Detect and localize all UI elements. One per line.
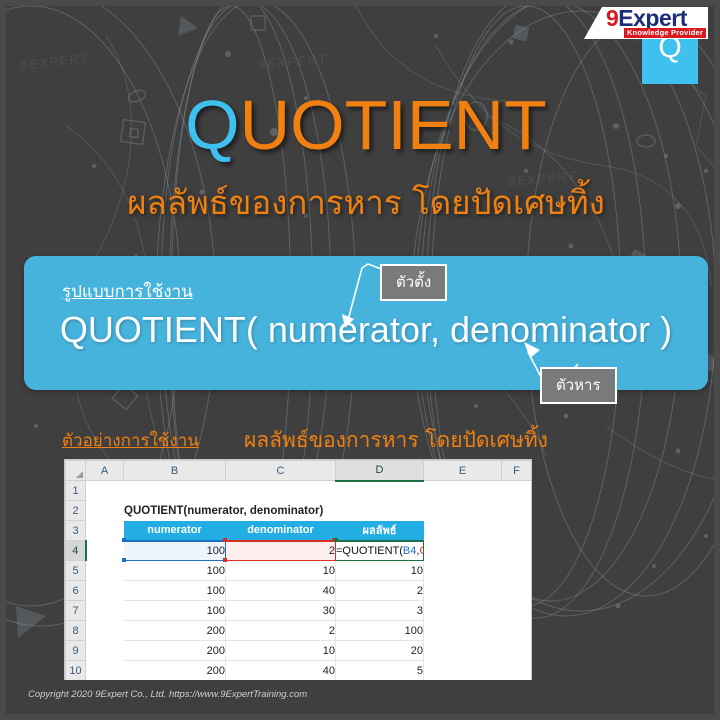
cell-e7[interactable] — [424, 601, 502, 621]
table-row: 8 200 2 100 — [66, 621, 532, 641]
column-header-f[interactable]: F — [502, 461, 532, 481]
logo-nine: 9 — [606, 7, 618, 31]
cell-d10[interactable]: 5 — [336, 661, 424, 681]
cell-f4[interactable] — [502, 541, 532, 561]
cell-f10[interactable] — [502, 661, 532, 681]
title-first-letter: Q — [185, 86, 239, 164]
table-row: 5 100 10 10 — [66, 561, 532, 581]
column-header-a[interactable]: A — [86, 461, 124, 481]
logo-slash-decoration — [584, 7, 602, 39]
cell-e10[interactable] — [424, 661, 502, 681]
row-header-6[interactable]: 6 — [66, 581, 86, 601]
table-row: 7 100 30 3 — [66, 601, 532, 621]
example-heading: ผลลัพธ์ของการหาร โดยปัดเศษทิ้ง — [244, 424, 548, 457]
cell-d8[interactable]: 100 — [336, 621, 424, 641]
range-handle-b-bottomleft[interactable] — [122, 558, 126, 562]
cell-c8[interactable]: 2 — [226, 621, 336, 641]
title-rest: UOTIENT — [240, 86, 547, 164]
syntax-panel-label: รูปแบบการใช้งาน — [62, 278, 193, 305]
table-row: 9 200 10 20 — [66, 641, 532, 661]
table-row: 10 200 40 5 — [66, 661, 532, 681]
page-title: QUOTIENT — [6, 90, 720, 160]
cell-a9[interactable] — [86, 641, 124, 661]
table-row: 2 QUOTIENT(numerator, denominator) — [66, 501, 532, 521]
cell-e9[interactable] — [424, 641, 502, 661]
cell-c9[interactable]: 10 — [226, 641, 336, 661]
cell-e1[interactable] — [424, 481, 502, 501]
slide-canvas: 9EXPERT 9EXPERT 9EXPERT Q QUOTIENT ผลลัพ… — [0, 0, 720, 720]
cell-f7[interactable] — [502, 601, 532, 621]
cell-a3[interactable] — [86, 521, 124, 541]
row-header-3[interactable]: 3 — [66, 521, 86, 541]
cell-c1[interactable] — [226, 481, 336, 501]
formula-prefix: =QUOTIENT( — [336, 545, 403, 557]
table-row: 4 100 2 =QUOTIENT(B4,C4) — [66, 541, 532, 561]
cell-b4[interactable]: 100 — [124, 541, 226, 561]
spreadsheet-screenshot: A B C D E F 1 2 QUOTIENT(numerator, deno… — [64, 459, 532, 697]
cell-c6[interactable]: 40 — [226, 581, 336, 601]
cell-b3-header-numerator[interactable]: numerator — [124, 521, 226, 541]
cell-f5[interactable] — [502, 561, 532, 581]
cell-d5[interactable]: 10 — [336, 561, 424, 581]
cell-c5[interactable]: 10 — [226, 561, 336, 581]
cell-a6[interactable] — [86, 581, 124, 601]
range-handle-c-bottomleft[interactable] — [223, 558, 227, 562]
cell-e3[interactable] — [424, 521, 502, 541]
row-header-1[interactable]: 1 — [66, 481, 86, 501]
formula-ref-b4: B4 — [403, 545, 416, 557]
table-row: 6 100 40 2 — [66, 581, 532, 601]
column-header-e[interactable]: E — [424, 461, 502, 481]
cell-b8[interactable]: 200 — [124, 621, 226, 641]
cell-b2-title[interactable]: QUOTIENT(numerator, denominator) — [124, 501, 424, 521]
column-header-b[interactable]: B — [124, 461, 226, 481]
range-handle-d-topleft[interactable] — [334, 538, 338, 542]
example-label: ตัวอย่างการใช้งาน — [62, 427, 199, 454]
cell-f3[interactable] — [502, 521, 532, 541]
cell-d6[interactable]: 2 — [336, 581, 424, 601]
row-header-10[interactable]: 10 — [66, 661, 86, 681]
row-header-7[interactable]: 7 — [66, 601, 86, 621]
row-header-8[interactable]: 8 — [66, 621, 86, 641]
cell-a2[interactable] — [86, 501, 124, 521]
spreadsheet-grid: A B C D E F 1 2 QUOTIENT(numerator, deno… — [65, 460, 532, 697]
callout-denominator: ตัวหาร — [540, 367, 617, 404]
cell-a7[interactable] — [86, 601, 124, 621]
cell-f9[interactable] — [502, 641, 532, 661]
cell-d3-header-result[interactable]: ผลลัพธ์ — [336, 521, 424, 541]
cell-b7[interactable]: 100 — [124, 601, 226, 621]
table-row: 3 numerator denominator ผลลัพธ์ — [66, 521, 532, 541]
cell-d9[interactable]: 20 — [336, 641, 424, 661]
page-subtitle: ผลลัพธ์ของการหาร โดยปัดเศษทิ้ง — [6, 184, 720, 222]
logo-tagline: Knowledge Provider — [624, 28, 706, 38]
column-header-row: A B C D E F — [66, 461, 532, 481]
cell-e8[interactable] — [424, 621, 502, 641]
cell-c10[interactable]: 40 — [226, 661, 336, 681]
cell-e4[interactable] — [424, 541, 502, 561]
table-row: 1 — [66, 481, 532, 501]
cell-e2[interactable] — [424, 501, 502, 521]
column-header-c[interactable]: C — [226, 461, 336, 481]
formula-ref-c4: C4 — [419, 545, 423, 557]
cell-c4[interactable]: 2 — [226, 541, 336, 561]
cell-c7[interactable]: 30 — [226, 601, 336, 621]
cell-a5[interactable] — [86, 561, 124, 581]
cell-a1[interactable] — [86, 481, 124, 501]
row-header-4[interactable]: 4 — [66, 541, 86, 561]
column-header-d[interactable]: D — [336, 461, 424, 481]
cell-b6[interactable]: 100 — [124, 581, 226, 601]
cell-b10[interactable]: 200 — [124, 661, 226, 681]
range-handle-c-topleft[interactable] — [223, 538, 227, 542]
callout-numerator: ตัวตั้ง — [380, 264, 447, 301]
footer-bar: Copyright 2020 9Expert Co., Ltd. https:/… — [6, 680, 720, 714]
cell-f8[interactable] — [502, 621, 532, 641]
cell-c3-header-denominator[interactable]: denominator — [226, 521, 336, 541]
cell-a10[interactable] — [86, 661, 124, 681]
select-all-corner[interactable] — [66, 461, 86, 481]
cell-a8[interactable] — [86, 621, 124, 641]
row-header-9[interactable]: 9 — [66, 641, 86, 661]
row-header-2[interactable]: 2 — [66, 501, 86, 521]
cell-e6[interactable] — [424, 581, 502, 601]
row-header-5[interactable]: 5 — [66, 561, 86, 581]
cell-b9[interactable]: 200 — [124, 641, 226, 661]
logo-wordmark: 9Expert — [606, 7, 687, 30]
brand-logo: 9Expert Knowledge Provider — [602, 7, 708, 39]
cell-d7[interactable]: 3 — [336, 601, 424, 621]
cell-b5[interactable]: 100 — [124, 561, 226, 581]
syntax-formula-text: QUOTIENT( numerator, denominator ) — [24, 308, 708, 351]
cell-d1[interactable] — [336, 481, 424, 501]
cell-e5[interactable] — [424, 561, 502, 581]
cell-a4[interactable] — [86, 541, 124, 561]
cell-d4-formula[interactable]: =QUOTIENT(B4,C4) — [336, 541, 424, 561]
cell-f1[interactable] — [502, 481, 532, 501]
cell-b1[interactable] — [124, 481, 226, 501]
cell-f2[interactable] — [502, 501, 532, 521]
range-handle-b-topleft[interactable] — [122, 538, 126, 542]
cell-f6[interactable] — [502, 581, 532, 601]
copyright-text: Copyright 2020 9Expert Co., Ltd. https:/… — [28, 689, 307, 700]
